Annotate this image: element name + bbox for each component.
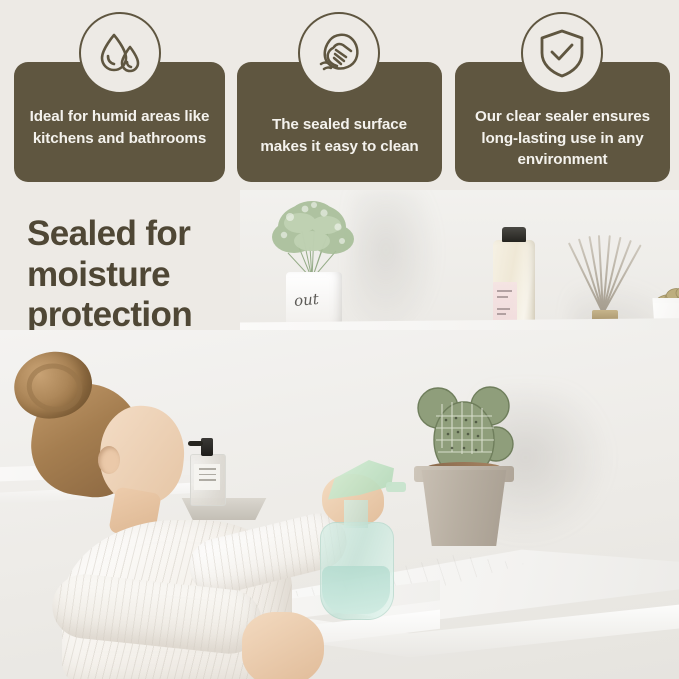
feature-card-1-text: Ideal for humid areas like kitchens and … bbox=[14, 106, 225, 149]
photo-child-cleaning-scene bbox=[0, 330, 679, 679]
spray-bottle-neck bbox=[344, 500, 368, 528]
ear bbox=[98, 446, 120, 474]
spray-nozzle bbox=[386, 482, 406, 492]
spray-bottle-liquid bbox=[322, 566, 390, 614]
infographic-canvas: Ideal for humid areas like kitchens and … bbox=[0, 0, 679, 679]
pot-script-text: out bbox=[293, 290, 319, 310]
feature-card-2-text: The sealed surface makes it easy to clea… bbox=[237, 114, 442, 157]
child-figure bbox=[0, 350, 322, 679]
shield-check-icon bbox=[521, 12, 603, 94]
bottle-cap bbox=[502, 227, 526, 242]
cactus-in-terracotta-pot bbox=[400, 370, 520, 560]
water-drops-icon bbox=[79, 12, 161, 94]
feature-card-3-text: Our clear sealer ensures long-lasting us… bbox=[455, 106, 670, 171]
hand-wiping-cloth-icon bbox=[298, 12, 380, 94]
feature-card-strip: Ideal for humid areas like kitchens and … bbox=[0, 0, 679, 196]
spray-bottle bbox=[300, 430, 410, 630]
terracotta-pot bbox=[418, 470, 510, 546]
page-headline: Sealed for moisture protection bbox=[27, 214, 242, 336]
